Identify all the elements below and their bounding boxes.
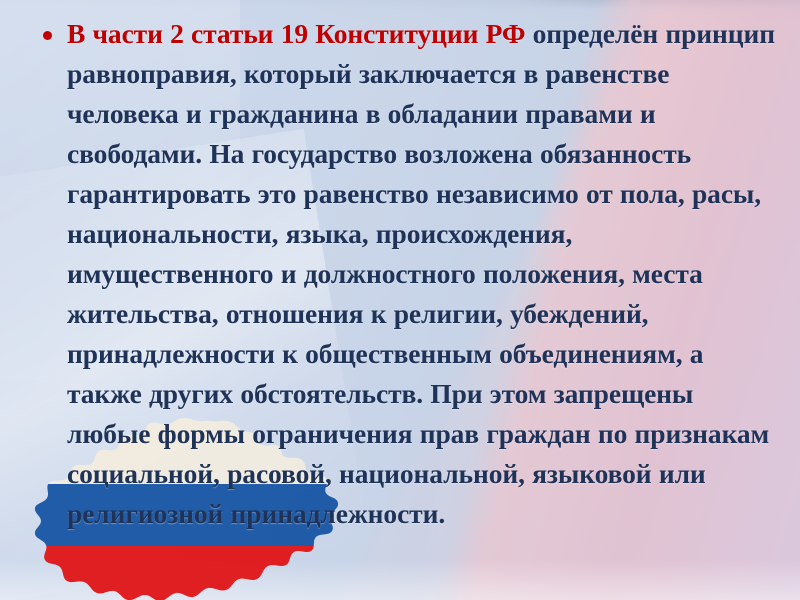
slide-content: В части 2 статьи 19 Конституции РФ опред… xyxy=(0,0,800,600)
bullet-list-item: В части 2 статьи 19 Конституции РФ опред… xyxy=(38,14,776,534)
paragraph-text: В части 2 статьи 19 Конституции РФ опред… xyxy=(67,14,776,534)
bullet-dot-icon xyxy=(43,31,52,40)
paragraph-body: определён принцип равноправия, который з… xyxy=(67,18,775,529)
presentation-slide: В части 2 статьи 19 Конституции РФ опред… xyxy=(0,0,800,600)
highlighted-citation: В части 2 статьи 19 Конституции РФ xyxy=(67,18,525,49)
